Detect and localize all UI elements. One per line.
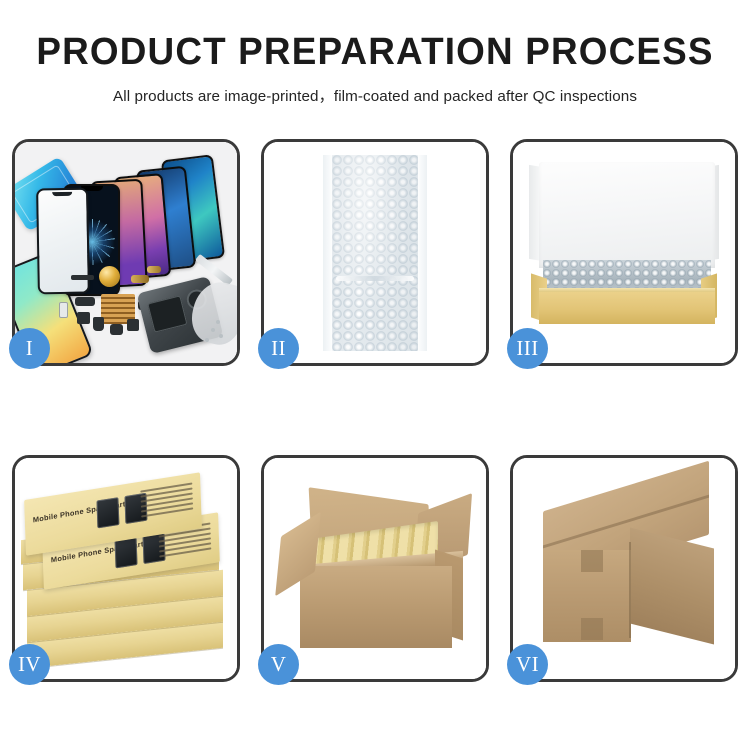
step-image-6 <box>513 458 735 679</box>
box-front-icon <box>539 292 715 324</box>
box-lid-icon <box>539 162 715 268</box>
step-panel-4: Mobile Phone Spare Parts Mobile Phone Sp… <box>12 455 240 682</box>
steps-grid: I II <box>12 139 738 682</box>
page-subtitle: All products are image-printed，film-coat… <box>0 84 750 106</box>
part-icon <box>131 275 149 283</box>
part-icon <box>71 275 94 280</box>
part-icon <box>77 312 90 324</box>
product-preparation-infographic: PRODUCT PREPARATION PROCESS All products… <box>0 0 750 750</box>
step-image-4: Mobile Phone Spare Parts Mobile Phone Sp… <box>15 458 237 679</box>
step-badge-6: VI <box>507 644 548 685</box>
screw-icon <box>219 334 223 338</box>
part-icon <box>127 319 139 331</box>
box-stack-icon: Mobile Phone Spare Parts Mobile Phone Sp… <box>21 482 235 670</box>
part-icon <box>93 317 104 331</box>
step-image-1 <box>15 142 237 363</box>
step-badge-1: I <box>9 328 50 369</box>
step-badge-4: IV <box>9 644 50 685</box>
wrap-edge-icon <box>323 155 333 351</box>
part-icon <box>75 297 95 306</box>
step-panel-6: VI <box>510 455 738 682</box>
step-badge-3: III <box>507 328 548 369</box>
step-image-3 <box>513 142 735 363</box>
step-panel-2: II <box>261 139 489 366</box>
protector-notch-icon <box>52 192 72 196</box>
carton-tab-icon <box>581 618 603 640</box>
step-image-2 <box>264 142 486 363</box>
carton-edge-icon <box>629 542 631 638</box>
step-badge-2: II <box>258 328 299 369</box>
step-badge-5: V <box>258 644 299 685</box>
carton-body-icon <box>300 566 452 648</box>
screw-icon <box>216 320 220 324</box>
part-icon <box>59 302 68 318</box>
bubble-wrap-icon <box>332 155 418 351</box>
wrap-seam-icon <box>336 276 414 281</box>
box-artwork-screen-icon <box>96 497 119 528</box>
screw-icon <box>205 338 209 342</box>
page-title: PRODUCT PREPARATION PROCESS <box>11 33 739 71</box>
part-icon <box>110 324 123 335</box>
step-panel-5: V <box>261 455 489 682</box>
screw-icon <box>211 328 215 332</box>
box-artwork-screen-icon <box>115 537 138 568</box>
step-image-5 <box>264 458 486 679</box>
carton-tab-icon <box>581 550 603 572</box>
step-panel-3: III <box>510 139 738 366</box>
header: PRODUCT PREPARATION PROCESS All products… <box>0 0 750 106</box>
step-panel-1: I <box>12 139 240 366</box>
wrap-edge-icon <box>417 155 427 351</box>
part-icon <box>147 266 161 273</box>
coil-part-icon <box>99 266 120 287</box>
